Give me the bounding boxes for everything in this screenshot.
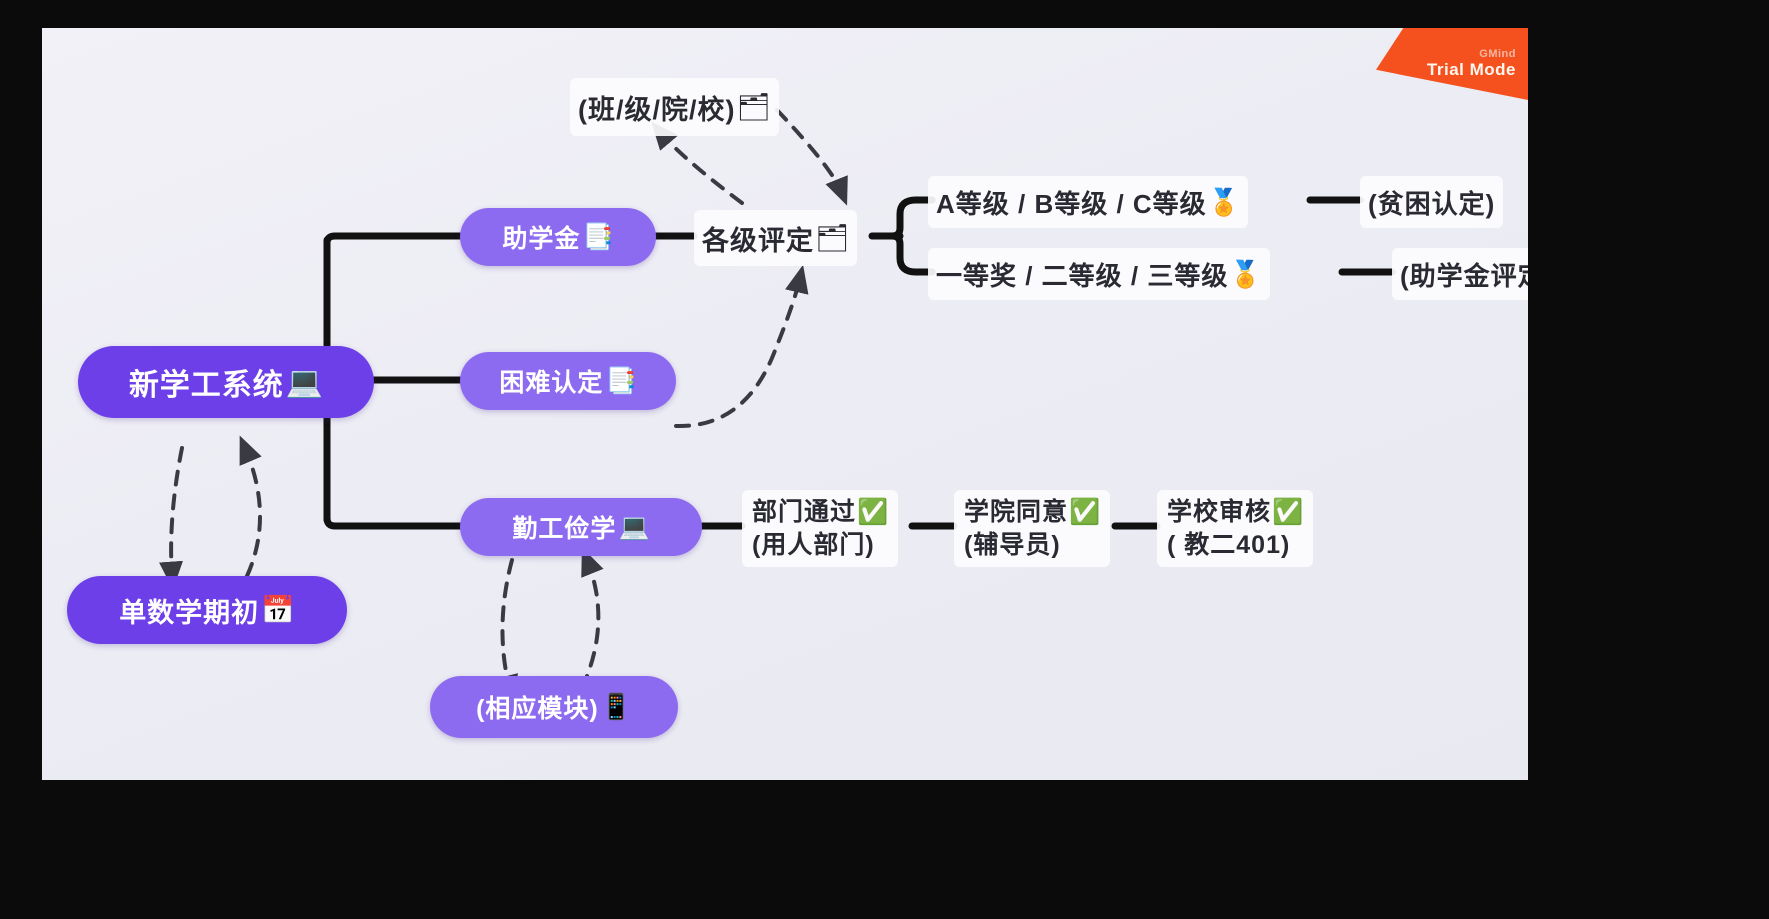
label-grade-abc-text: A等级 / B等级 / C等级 xyxy=(936,184,1207,221)
screenshot-stage: 新学工系统 💻 单数学期初 📅 助学金 📑 困难认定 📑 勤工俭学 💻 (相应模… xyxy=(0,0,1769,919)
node-workstudy[interactable]: 勤工俭学 💻 xyxy=(460,498,702,556)
label-grade-prize-text: 一等奖 / 二等级 / 三等级 xyxy=(936,256,1228,293)
document-icon: 📑 xyxy=(582,223,613,252)
label-step-dept-line1: 部门通过 xyxy=(752,496,856,529)
document-icon-2: 📑 xyxy=(605,367,636,396)
node-grant[interactable]: 助学金 📑 xyxy=(460,208,656,266)
label-step-college[interactable]: 学院同意 ✅ (辅导员) xyxy=(954,490,1110,567)
check-icon-school: ✅ xyxy=(1272,496,1303,529)
folder-icon-2: 🗂 xyxy=(815,222,849,254)
label-appraisal[interactable]: 各级评定 🗂 xyxy=(694,210,857,266)
edge-dashed-appraisal-to-scope xyxy=(660,132,742,203)
label-step-school[interactable]: 学校审核 ✅ ( 教二401) xyxy=(1157,490,1313,567)
folder-icon: 🗂 xyxy=(737,91,771,123)
node-root[interactable]: 新学工系统 💻 xyxy=(78,346,374,418)
trial-mode-label: Trial Mode xyxy=(1427,60,1516,80)
node-semester[interactable]: 单数学期初 📅 xyxy=(67,576,347,644)
mobile-icon: 📱 xyxy=(601,693,632,722)
label-step-dept-line2: (用人部门) xyxy=(752,529,875,562)
node-grant-label: 助学金 xyxy=(502,219,580,255)
edge-brace xyxy=(892,200,916,272)
edge-dashed-semester-to-root xyxy=(245,448,260,576)
node-module-label: (相应模块) xyxy=(476,689,599,725)
label-grade-prize-note-text: (助学金评定) xyxy=(1400,256,1528,293)
check-icon-college: ✅ xyxy=(1069,496,1100,529)
brand-name: GMind xyxy=(1479,48,1516,60)
mindmap-canvas[interactable]: 新学工系统 💻 单数学期初 📅 助学金 📑 困难认定 📑 勤工俭学 💻 (相应模… xyxy=(42,28,1528,780)
medal-icon-2: 🏅 xyxy=(1229,259,1261,290)
node-hardship-label: 困难认定 xyxy=(499,363,603,399)
label-step-college-line1: 学院同意 xyxy=(964,496,1068,529)
label-grade-prize[interactable]: 一等奖 / 二等级 / 三等级 🏅 xyxy=(928,248,1270,300)
node-hardship[interactable]: 困难认定 📑 xyxy=(460,352,676,410)
label-scope-text: (班/级/院/校) xyxy=(578,88,736,127)
label-grade-abc[interactable]: A等级 / B等级 / C等级 🏅 xyxy=(928,176,1248,228)
edge-dashed-root-to-semester xyxy=(171,448,182,576)
label-grade-abc-note[interactable]: (贫困认定) xyxy=(1360,176,1503,228)
laptop-icon: 💻 xyxy=(286,365,323,400)
edge-to-workstudy xyxy=(327,518,460,526)
node-root-label: 新学工系统 xyxy=(129,360,284,404)
calendar-icon: 📅 xyxy=(261,594,295,626)
label-scope[interactable]: (班/级/院/校) 🗂 xyxy=(570,78,779,136)
edge-to-grant xyxy=(327,236,460,243)
node-semester-label: 单数学期初 xyxy=(119,591,259,630)
label-step-dept[interactable]: 部门通过 ✅ (用人部门) xyxy=(742,490,898,567)
edge-dashed-workstudy-to-module xyxy=(502,560,512,690)
label-grade-prize-note[interactable]: (助学金评定) xyxy=(1392,248,1528,300)
edge-dashed-scope-to-appraisal xyxy=(777,110,842,193)
label-step-school-line2: ( 教二401) xyxy=(1167,529,1290,562)
check-icon-dept: ✅ xyxy=(857,496,888,529)
label-appraisal-text: 各级评定 xyxy=(702,219,814,258)
label-step-school-line1: 学校审核 xyxy=(1167,496,1271,529)
label-grade-abc-note-text: (贫困认定) xyxy=(1368,184,1495,221)
edge-dashed-hardship-to-appraisal xyxy=(676,278,800,426)
node-workstudy-label: 勤工俭学 xyxy=(512,509,616,545)
laptop-icon-2: 💻 xyxy=(618,513,649,542)
edge-dashed-module-to-workstudy xyxy=(582,560,598,688)
label-step-college-line2: (辅导员) xyxy=(964,529,1061,562)
node-module[interactable]: (相应模块) 📱 xyxy=(430,676,678,738)
medal-icon: 🏅 xyxy=(1208,187,1240,218)
